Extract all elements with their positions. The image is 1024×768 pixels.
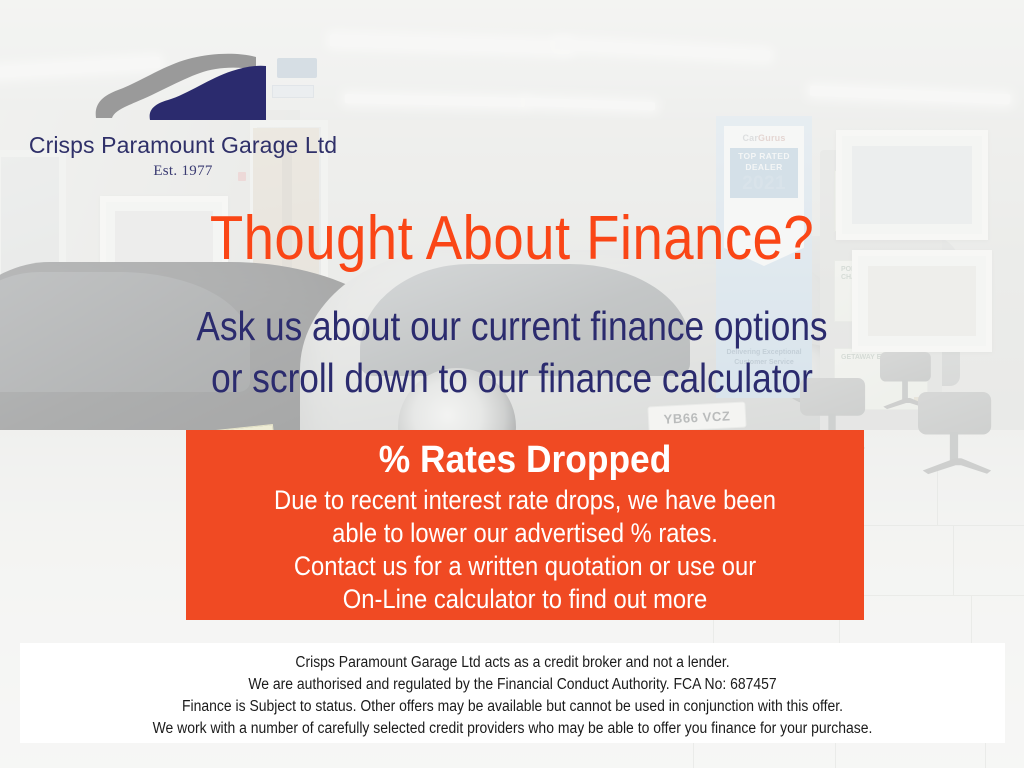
subheadline-line-1: Ask us about our current finance options	[72, 300, 953, 352]
disclaimer-line: We work with a number of carefully selec…	[69, 718, 956, 740]
banner-line: Due to recent interest rate drops, we ha…	[227, 484, 824, 517]
banner-title: % Rates Dropped	[210, 436, 841, 484]
page-title: Thought About Finance?	[61, 206, 962, 272]
banner-line: On-Line calculator to find out more	[227, 583, 824, 616]
banner-line: able to lower our advertised % rates.	[227, 517, 824, 550]
rates-dropped-banner: % Rates Dropped Due to recent interest r…	[186, 430, 864, 620]
disclaimer-line: We are authorised and regulated by the F…	[69, 674, 956, 696]
subheadline-line-2: or scroll down to our finance calculator	[72, 352, 953, 404]
company-name: Crisps Paramount Garage Ltd	[18, 132, 348, 159]
car-silhouette-icon	[88, 48, 278, 126]
legal-disclaimer: Crisps Paramount Garage Ltd acts as a cr…	[20, 643, 1005, 743]
company-logo-block: Crisps Paramount Garage Ltd Est. 1977	[18, 48, 348, 180]
banner-line: Contact us for a written quotation or us…	[227, 550, 824, 583]
poster-content: Crisps Paramount Garage Ltd Est. 1977 Th…	[0, 0, 1024, 768]
subheadline: Ask us about our current finance options…	[72, 300, 953, 404]
disclaimer-line: Finance is Subject to status. Other offe…	[69, 696, 956, 718]
disclaimer-line: Crisps Paramount Garage Ltd acts as a cr…	[69, 652, 956, 674]
promo-poster: YB66 VCZ Thought about finance? CarGurus…	[0, 0, 1024, 768]
established-year: Est. 1977	[18, 163, 348, 180]
